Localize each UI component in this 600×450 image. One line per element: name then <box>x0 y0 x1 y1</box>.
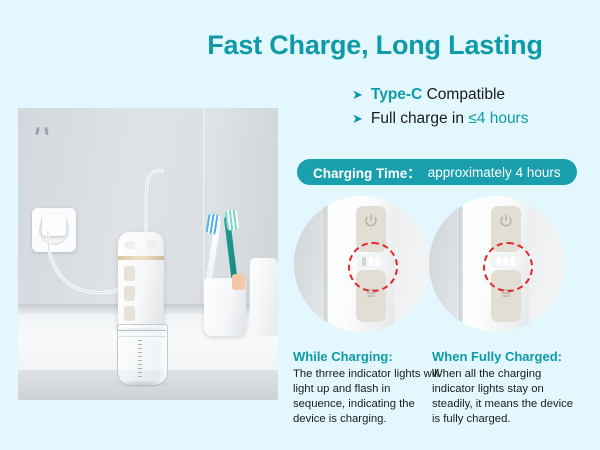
product-photo <box>18 108 278 400</box>
bullet-type-c-strong: Type-C <box>371 86 422 103</box>
caption-body: The thrree indicator lights will light u… <box>293 367 443 427</box>
bullet-full-charge: ➤ Full charge in ≤4 hours <box>352 110 596 128</box>
toothbrush-teal-bristles <box>225 209 239 230</box>
caption-heading: While Charging: <box>293 349 443 364</box>
charging-time-label: Charging Time： <box>313 162 421 182</box>
bullet-full-charge-text: Full charge in ≤4 hours <box>371 110 529 128</box>
flosser-button-left <box>124 241 135 249</box>
bullet-full-charge-accent: ≤4 hours <box>468 110 528 127</box>
background-bottle <box>250 258 278 336</box>
flosser-pad-top <box>124 266 135 281</box>
bullet-full-charge-lead: Full charge in <box>371 110 468 127</box>
caption-heading: When Fully Charged: <box>432 349 582 364</box>
flosser-button-right <box>146 240 158 250</box>
bullet-type-c: ➤ Type-C Compatible <box>352 86 596 104</box>
water-tank-ring <box>117 330 166 337</box>
flosser-pad-mid <box>124 286 135 301</box>
inset-while-charging <box>294 196 430 332</box>
red-dashed-highlight-icon <box>483 242 533 292</box>
flosser-gold-trim <box>118 256 164 260</box>
arrow-bullet-icon: ➤ <box>352 88 363 101</box>
charger-plug <box>42 214 66 236</box>
caption-body: When all the charging indicator lights s… <box>432 367 582 427</box>
flosser-nozzle <box>126 166 166 236</box>
charging-time-badge: Charging Time： approximately 4 hours <box>297 159 577 185</box>
arrow-bullet-icon: ➤ <box>352 112 363 125</box>
cup-accessory <box>232 274 245 290</box>
flosser-pad-bottom <box>124 306 135 321</box>
bullet-type-c-rest: Compatible <box>422 86 505 103</box>
feature-bullet-list: ➤ Type-C Compatible ➤ Full charge in ≤4 … <box>352 86 596 134</box>
water-tank-scale <box>138 340 142 378</box>
bullet-type-c-text: Type-C Compatible <box>371 86 505 104</box>
power-icon <box>364 214 378 228</box>
water-tank-shadow <box>114 380 172 388</box>
page-title: Fast Charge, Long Lasting <box>160 30 590 61</box>
inset-fully-charged <box>429 196 565 332</box>
power-icon <box>499 214 513 228</box>
red-dashed-highlight-icon <box>348 242 398 292</box>
charging-time-value: approximately 4 hours <box>428 165 561 180</box>
caption-while-charging: While Charging: The thrree indicator lig… <box>293 349 443 427</box>
caption-fully-charged: When Fully Charged: When all the chargin… <box>432 349 582 427</box>
